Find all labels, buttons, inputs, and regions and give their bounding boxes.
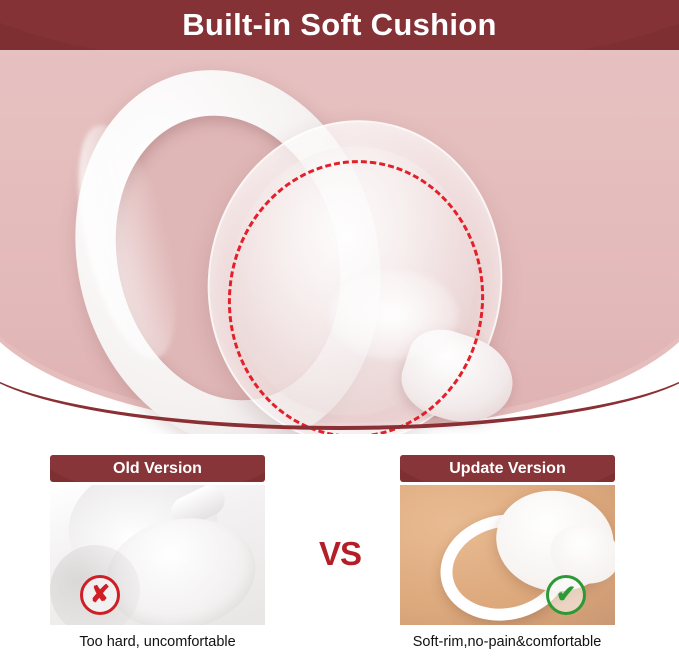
old-version-hard-flange-photo: ✘ bbox=[50, 485, 265, 625]
cross-icon: ✘ bbox=[80, 575, 120, 615]
hero-bottom-border bbox=[0, 350, 679, 430]
old-version-label: Old Version bbox=[50, 455, 265, 482]
comparison-section: Old Version ✘ Too hard, uncomfortable VS… bbox=[0, 440, 679, 671]
update-version-soft-rim-flange-photo: ✔ bbox=[400, 485, 615, 625]
page-title: Built-in Soft Cushion bbox=[0, 0, 679, 50]
old-version-caption: Too hard, uncomfortable bbox=[50, 633, 265, 652]
check-icon: ✔ bbox=[546, 575, 586, 615]
vs-label: VS bbox=[300, 535, 380, 573]
update-version-card: Update Version ✔ Soft-rim,no-pain&comfor… bbox=[400, 455, 615, 652]
update-version-label: Update Version bbox=[400, 455, 615, 482]
old-version-card: Old Version ✘ Too hard, uncomfortable bbox=[50, 455, 265, 652]
product-infographic: Built-in Soft Cushion Old Version bbox=[0, 0, 679, 671]
old-version-label-bar: Old Version bbox=[50, 455, 265, 482]
update-version-label-bar: Update Version bbox=[400, 455, 615, 482]
hero-product-photo bbox=[0, 50, 679, 434]
update-version-caption: Soft-rim,no-pain&comfortable bbox=[392, 633, 622, 652]
